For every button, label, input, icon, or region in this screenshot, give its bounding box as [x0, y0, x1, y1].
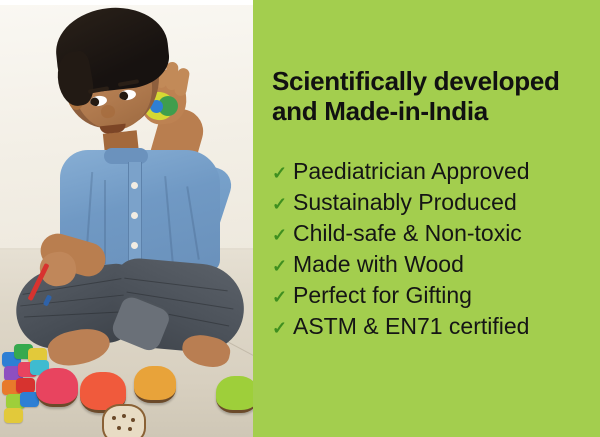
- check-icon: ✓: [272, 313, 293, 344]
- shirt-fold: [104, 180, 106, 264]
- disc-pattern-dot: [112, 416, 116, 420]
- feature-label: Child-safe & Non-toxic: [293, 218, 522, 249]
- feature-list-item: ✓Made with Wood: [272, 249, 530, 280]
- paint-pot: [16, 378, 35, 393]
- check-icon: ✓: [272, 220, 293, 251]
- shirt-button: [131, 242, 138, 249]
- disc-pattern-dot: [117, 426, 121, 430]
- pupil: [119, 91, 129, 101]
- disc-pattern-dot: [122, 414, 126, 418]
- check-icon: ✓: [272, 189, 293, 220]
- wooden-disc-painted: [216, 376, 253, 413]
- wooden-disc-painted: [134, 366, 176, 403]
- shirt-button: [131, 182, 138, 189]
- check-icon: ✓: [272, 158, 293, 189]
- feature-list-item: ✓Paediatrician Approved: [272, 156, 530, 187]
- paint-pot: [4, 408, 23, 423]
- wooden-disc-painted: [36, 368, 78, 407]
- feature-label: Made with Wood: [293, 249, 464, 280]
- feature-label: Perfect for Gifting: [293, 280, 472, 311]
- heading-line-2: and Made-in-India: [272, 96, 488, 126]
- disc-pattern-dot: [128, 427, 132, 431]
- feature-list-item: ✓Child-safe & Non-toxic: [272, 218, 530, 249]
- heading-line-1: Scientifically developed: [272, 66, 560, 96]
- page-title: Scientifically developed and Made-in-Ind…: [272, 66, 592, 126]
- feature-label: Paediatrician Approved: [293, 156, 530, 187]
- feature-panel: Scientifically developed and Made-in-Ind…: [253, 0, 600, 437]
- product-feature-banner: Scientifically developed and Made-in-Ind…: [0, 0, 600, 437]
- disc-pattern-dot: [131, 418, 135, 422]
- product-photo: [0, 0, 253, 437]
- feature-list: ✓Paediatrician Approved✓Sustainably Prod…: [272, 156, 530, 342]
- shirt-button: [131, 212, 138, 219]
- feature-list-item: ✓Sustainably Produced: [272, 187, 530, 218]
- feature-list-item: ✓Perfect for Gifting: [272, 280, 530, 311]
- feature-label: ASTM & EN71 certified: [293, 311, 529, 342]
- wooden-disc-unpainted: [102, 404, 146, 437]
- check-icon: ✓: [272, 282, 293, 313]
- feature-list-item: ✓ASTM & EN71 certified: [272, 311, 530, 342]
- pupil: [90, 97, 100, 107]
- check-icon: ✓: [272, 251, 293, 282]
- feature-label: Sustainably Produced: [293, 187, 517, 218]
